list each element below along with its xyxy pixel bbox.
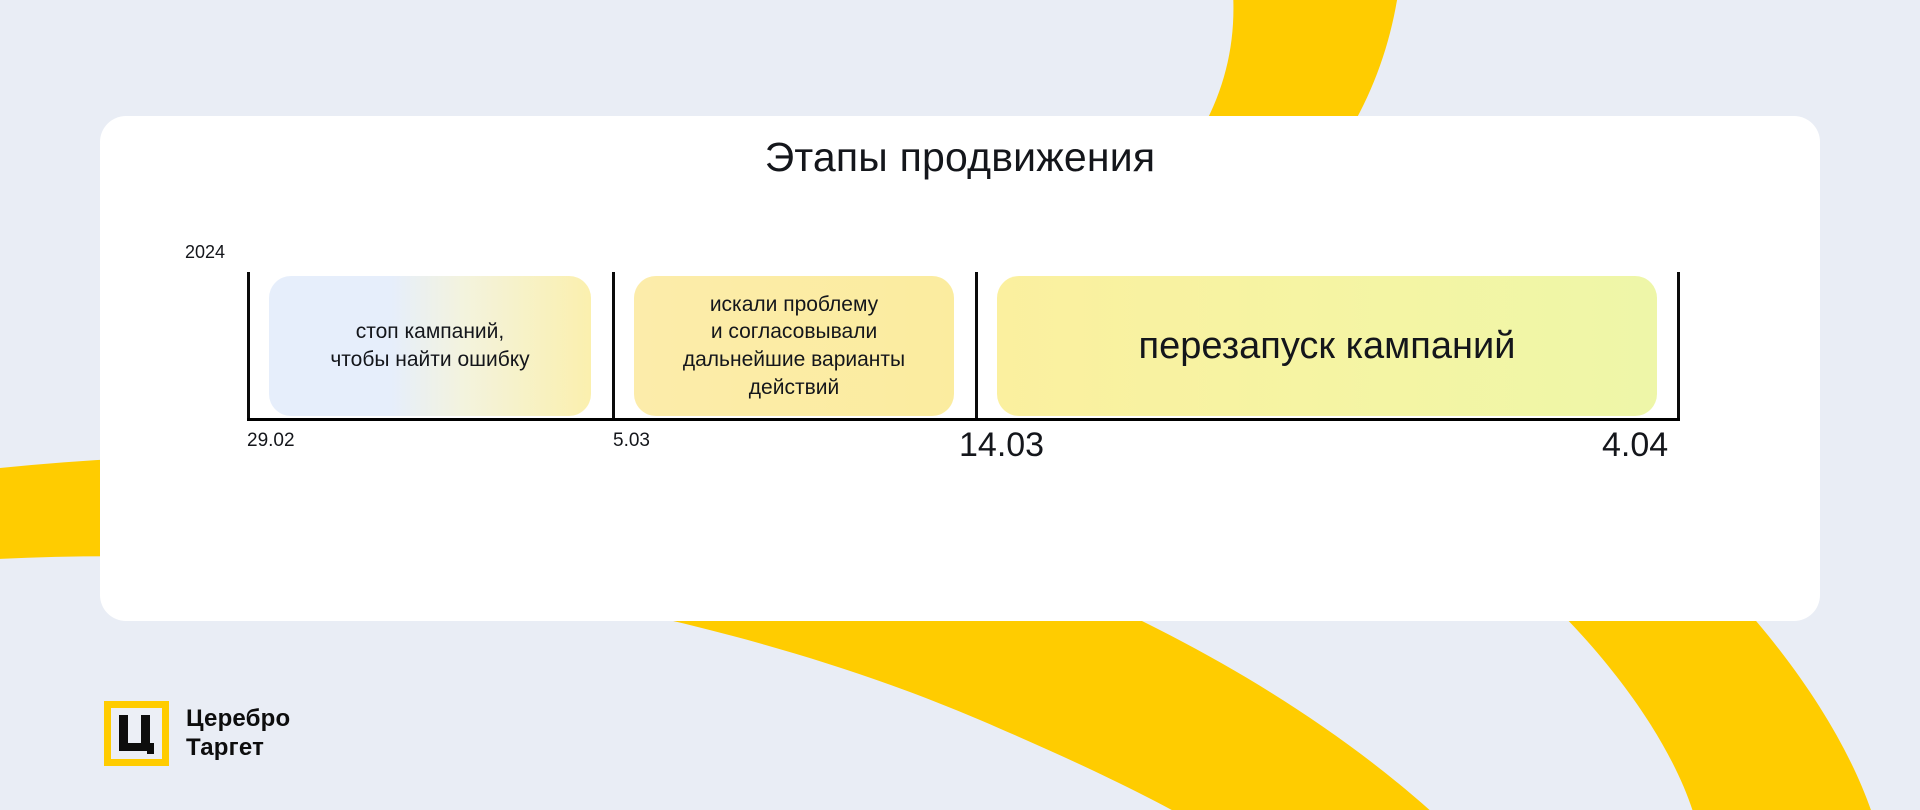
timeline-date-label-1: 29.02 xyxy=(247,430,295,452)
timeline-date-label-4: 4.04 xyxy=(1602,426,1668,465)
timeline-year-label: 2024 xyxy=(185,242,225,263)
content-card: Этапы продвижения 2024 стоп кампаний, чт… xyxy=(100,116,1820,621)
timeline-phase-label: перезапуск кампаний xyxy=(1139,321,1516,371)
timeline-tick-3 xyxy=(975,272,978,420)
timeline-chart: 2024 стоп кампаний, чтобы найти ошибку и… xyxy=(247,254,1680,454)
timeline-phase-find-problem[interactable]: искали проблему и согласовывали дальнейш… xyxy=(634,276,954,416)
timeline-date-label-3: 14.03 xyxy=(959,426,1044,465)
timeline-phase-label: искали проблему и согласовывали дальнейш… xyxy=(683,291,905,402)
timeline-tick-2 xyxy=(612,272,615,420)
timeline-phase-label: стоп кампаний, чтобы найти ошибку xyxy=(330,318,529,373)
logo-glyph-tse-icon xyxy=(111,708,162,759)
page-title: Этапы продвижения xyxy=(100,132,1820,183)
logo-wordmark: Церебро Таргет xyxy=(186,705,290,762)
tse-letter-icon xyxy=(117,713,157,755)
timeline-phase-stop-campaigns[interactable]: стоп кампаний, чтобы найти ошибку xyxy=(269,276,591,416)
timeline-axis-baseline xyxy=(247,418,1680,421)
logo-mark-icon xyxy=(104,701,169,766)
timeline-date-label-2: 5.03 xyxy=(613,430,650,452)
timeline-phase-relaunch[interactable]: перезапуск кампаний xyxy=(997,276,1657,416)
brand-logo: Церебро Таргет xyxy=(104,701,290,766)
slide-canvas: Этапы продвижения 2024 стоп кампаний, чт… xyxy=(0,0,1920,810)
timeline-tick-4 xyxy=(1677,272,1680,420)
timeline-tick-1 xyxy=(247,272,250,420)
